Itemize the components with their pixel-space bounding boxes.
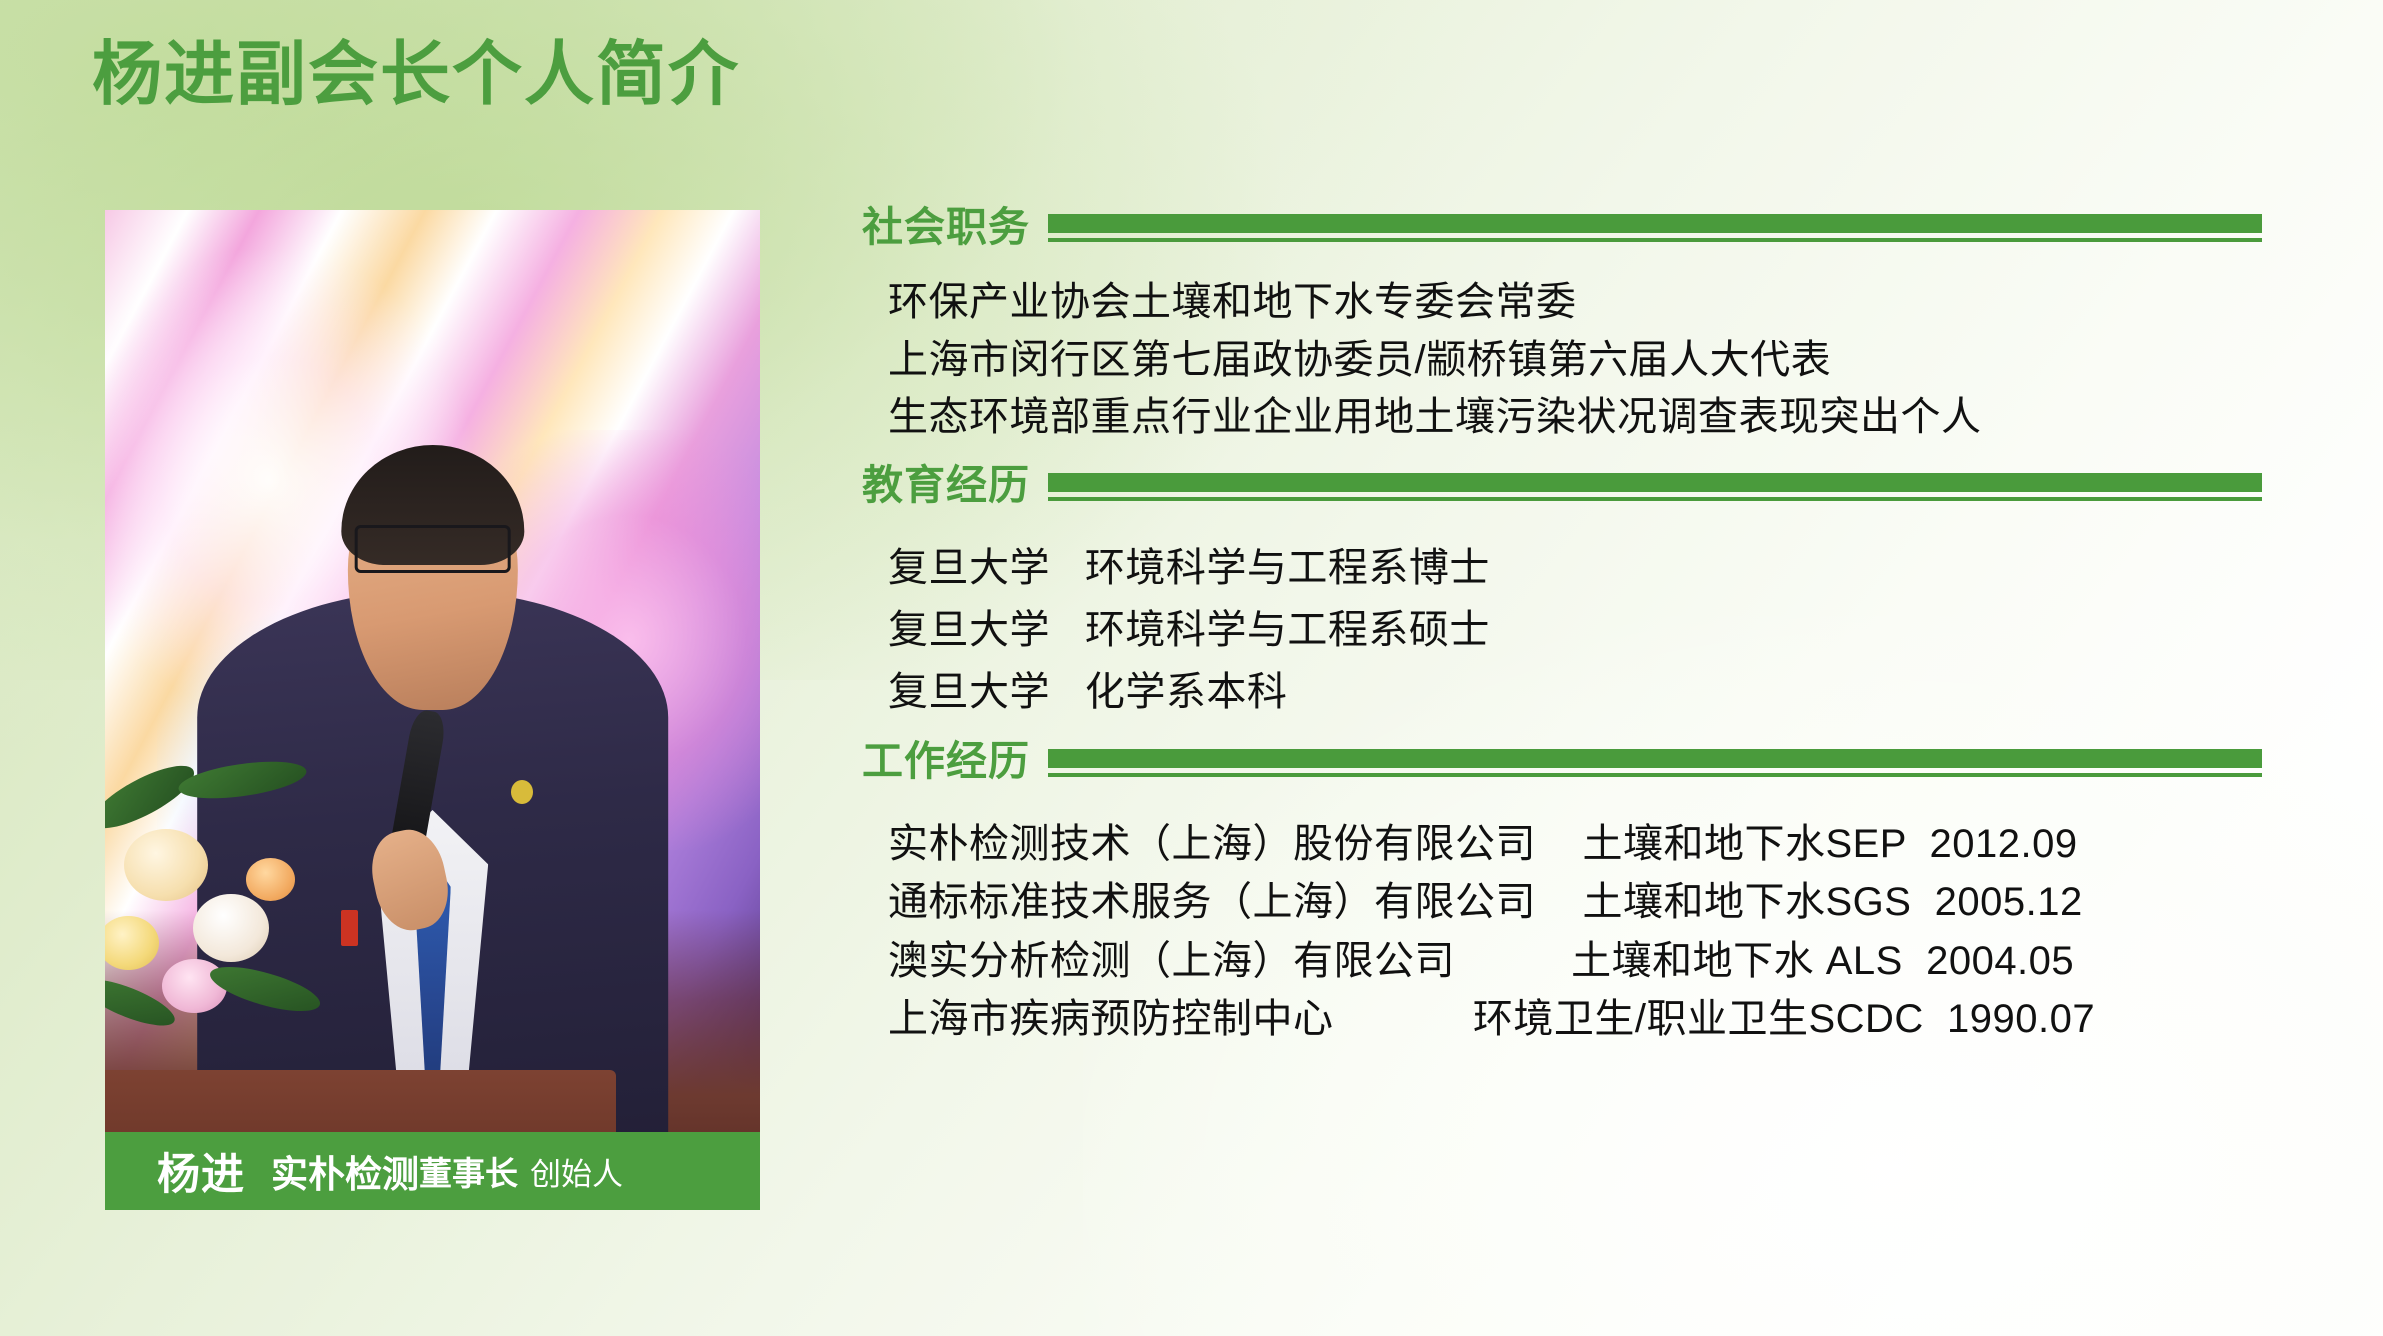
work-line: 上海市疾病预防控制中心 环境卫生/职业卫生SCDC 1990.07 — [888, 990, 2262, 1048]
section-title-work: 工作经历 — [862, 741, 1030, 782]
caption-name: 杨进 — [157, 1140, 245, 1202]
flower-shape — [124, 829, 208, 901]
flower-arrangement — [105, 750, 459, 1110]
section-body-social: 环保产业协会土壤和地下水专委会常委 上海市闵行区第七届政协委员/颛桥镇第六届人大… — [862, 258, 2262, 447]
portrait-photo — [105, 210, 760, 1210]
section-body-work: 实朴检测技术（上海）股份有限公司 土壤和地下水SEP 2012.09 通标标准技… — [862, 793, 2262, 1049]
section-work-experience: 工作经历 实朴检测技术（上海）股份有限公司 土壤和地下水SEP 2012.09 … — [862, 731, 2262, 1049]
education-line: 复旦大学 化学系本科 — [888, 661, 2262, 723]
education-line: 复旦大学 环境科学与工程系博士 — [888, 537, 2262, 599]
flower-shape — [105, 916, 159, 970]
flower-shape — [193, 894, 269, 962]
photo-caption-bar: 杨进 实朴检测 董事长 创始人 — [105, 1132, 760, 1210]
leaf-shape — [206, 958, 324, 1021]
section-header: 社会职务 — [862, 196, 2262, 258]
caption-brand: 实朴检测 — [271, 1144, 419, 1198]
caption-role: 董事长 — [419, 1147, 518, 1195]
section-rule — [1048, 471, 2262, 501]
education-line: 复旦大学 环境科学与工程系硕士 — [888, 599, 2262, 661]
leaf-shape — [176, 756, 308, 806]
section-header: 教育经历 — [862, 455, 2262, 517]
section-education: 教育经历 复旦大学 环境科学与工程系博士 复旦大学 环境科学与工程系硕士 复旦大… — [862, 455, 2262, 723]
profile-content: 社会职务 环保产业协会土壤和地下水专委会常委 上海市闵行区第七届政协委员/颛桥镇… — [862, 196, 2262, 1056]
caption-founder: 创始人 — [530, 1149, 623, 1194]
section-header: 工作经历 — [862, 731, 2262, 793]
section-rule — [1048, 212, 2262, 242]
figure-glasses — [354, 525, 511, 573]
social-line: 环保产业协会土壤和地下水专委会常委 — [888, 274, 2262, 332]
photo-block: 杨进 实朴检测 董事长 创始人 — [105, 210, 760, 1210]
section-title-education: 教育经历 — [862, 465, 1030, 506]
work-line: 澳实分析检测（上海）有限公司 土壤和地下水 ALS 2004.05 — [888, 932, 2262, 990]
social-line: 生态环境部重点行业企业用地土壤污染状况调查表现突出个人 — [888, 389, 2262, 447]
section-title-social: 社会职务 — [862, 207, 1030, 248]
leaf-shape — [105, 754, 202, 839]
slide-root: 杨进副会长个人简介 — [0, 0, 2383, 1336]
page-title: 杨进副会长个人简介 — [92, 32, 740, 116]
section-social-positions: 社会职务 环保产业协会土壤和地下水专委会常委 上海市闵行区第七届政协委员/颛桥镇… — [862, 196, 2262, 447]
section-rule — [1048, 747, 2262, 777]
work-line: 通标标准技术服务（上海）有限公司 土壤和地下水SGS 2005.12 — [888, 873, 2262, 931]
section-body-education: 复旦大学 环境科学与工程系博士 复旦大学 环境科学与工程系硕士 复旦大学 化学系… — [862, 517, 2262, 723]
flower-shape — [246, 858, 295, 901]
social-line: 上海市闵行区第七届政协委员/颛桥镇第六届人大代表 — [888, 332, 2262, 390]
work-line: 实朴检测技术（上海）股份有限公司 土壤和地下水SEP 2012.09 — [888, 815, 2262, 873]
